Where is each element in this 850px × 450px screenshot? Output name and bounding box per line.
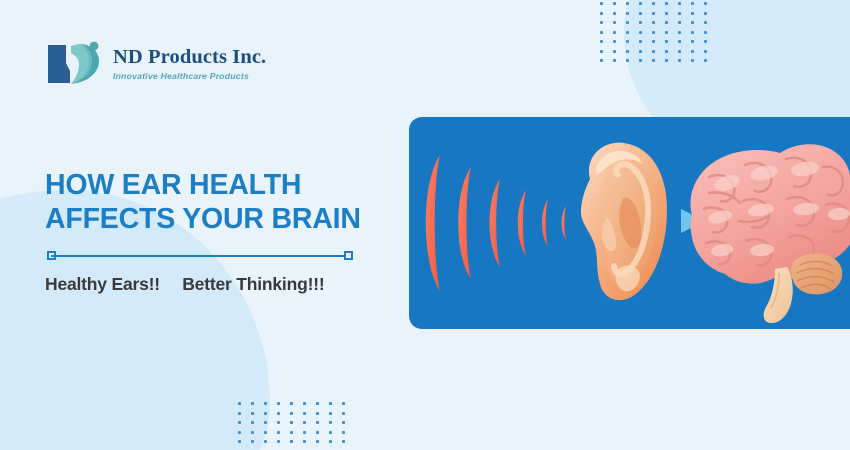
ear-to-brain-illustration <box>409 117 850 329</box>
brand-name: ND Products Inc. <box>113 47 266 69</box>
nd-monogram-icon <box>45 40 107 86</box>
sound-waves-icon <box>426 155 566 291</box>
dot-grid-top-icon <box>600 2 707 62</box>
subhead-part-1: Healthy Ears!! <box>45 274 160 294</box>
brand-tagline: Innovative Healthcare Products <box>113 71 266 81</box>
brand-logo[interactable]: ND Products Inc. Innovative Healthcare P… <box>45 40 266 86</box>
human-brain-icon <box>690 144 850 323</box>
divider-rule <box>51 255 349 258</box>
title-divider <box>47 251 353 261</box>
dot-grid-bottom-icon <box>238 402 345 450</box>
page-title: HOW EAR HEALTH AFFECTS YOUR BRAIN <box>45 168 385 237</box>
divider-cap-right-icon <box>344 251 353 260</box>
subhead-part-2: Better Thinking!!! <box>182 274 324 294</box>
hero-copy: HOW EAR HEALTH AFFECTS YOUR BRAIN Health… <box>45 168 385 295</box>
hero-subhead: Healthy Ears!! Better Thinking!!! <box>45 274 385 295</box>
human-ear-icon <box>581 143 667 300</box>
promo-banner: ND Products Inc. Innovative Healthcare P… <box>0 0 850 450</box>
headline-line-2: AFFECTS YOUR BRAIN <box>45 202 385 236</box>
headline-line-1: HOW EAR HEALTH <box>45 168 385 202</box>
illustration-panel <box>409 117 850 329</box>
